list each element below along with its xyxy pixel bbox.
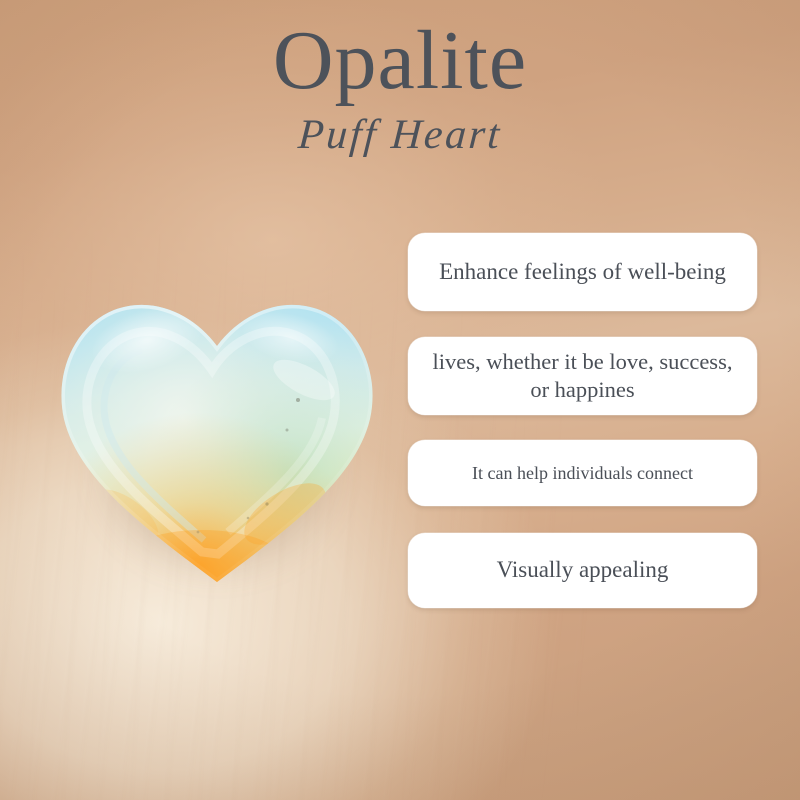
- heading-block: Opalite Puff Heart: [0, 18, 800, 158]
- feature-box-4[interactable]: Visually appealing: [408, 533, 757, 608]
- feature-box-1[interactable]: Enhance feelings of well-being: [408, 233, 757, 311]
- feature-list: Enhance feelings of well-being lives, wh…: [408, 233, 757, 608]
- heart-stone-graphic: [52, 282, 382, 592]
- page-title: Opalite: [0, 18, 800, 104]
- feature-box-3[interactable]: It can help individuals connect: [408, 440, 757, 506]
- feature-text-2: lives, whether it be love, success, or h…: [424, 348, 741, 405]
- product-infographic: Opalite Puff Heart: [0, 0, 800, 800]
- feature-text-1: Enhance feelings of well-being: [424, 258, 741, 287]
- feature-box-2[interactable]: lives, whether it be love, success, or h…: [408, 337, 757, 415]
- feature-text-3: It can help individuals connect: [424, 462, 741, 485]
- feature-text-4: Visually appealing: [424, 556, 741, 585]
- page-subtitle: Puff Heart: [0, 112, 800, 158]
- opalite-puff-heart-image: [52, 282, 382, 602]
